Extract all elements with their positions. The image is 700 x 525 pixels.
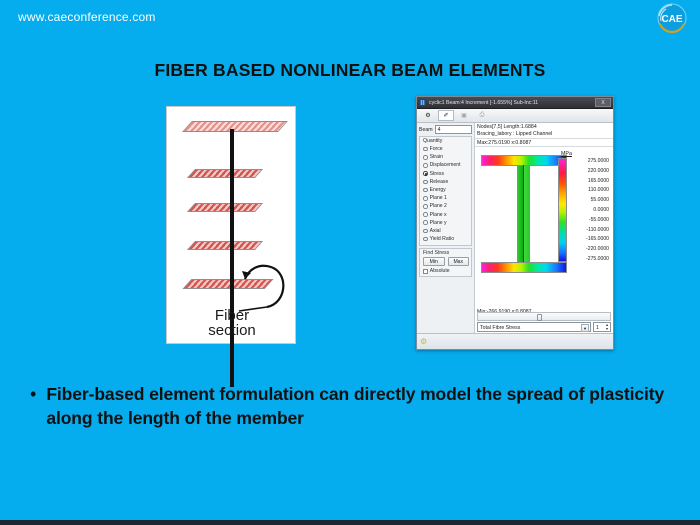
result-selector-row: Total Fibre Stress ▾ 1 ▲ ▼ [477, 322, 611, 332]
info-nodes-length: Nodes[7,5] Length:1.6884 [477, 124, 611, 131]
radio-icon[interactable] [423, 155, 428, 160]
model-info-lines: Nodes[7,5] Length:1.6884 Bracing_labory … [477, 124, 611, 137]
find-stress-group: Find Stress Min Max Absolute [419, 248, 472, 277]
site-url-text: www.caeconference.com [18, 10, 156, 24]
beam-input[interactable]: 4 [435, 125, 472, 134]
quantity-option-plane-x[interactable]: Plane x [423, 211, 469, 219]
fiber-caption-line2: section [175, 323, 289, 339]
quantity-option-label: Stress [430, 171, 444, 177]
quantity-option-displacement[interactable]: Displacement [423, 161, 469, 169]
slider-thumb[interactable] [537, 314, 542, 321]
chevron-down-icon[interactable]: ▾ [581, 324, 589, 332]
fiber-section-caption: Fiber section [175, 308, 289, 340]
legend-tick: -110.0000 [569, 227, 609, 233]
stress-color-legend: MPa 275.0000 220.0000 165.0000 110.0000 … [558, 151, 610, 262]
radio-icon[interactable] [423, 237, 428, 242]
max-value-text: Max:275.0190 x:0.8087 [477, 140, 531, 146]
legend-tick: -165.0000 [569, 236, 609, 242]
section-plot-canvas[interactable]: MPa 275.0000 220.0000 165.0000 110.0000 … [475, 149, 613, 307]
quantity-option-energy[interactable]: Energy [423, 186, 469, 194]
quantity-option-strain[interactable]: Strain [423, 153, 469, 161]
quantity-option-label: Displacement [430, 162, 461, 168]
quantity-option-axial[interactable]: Axial [423, 227, 469, 235]
bullet-text: Fiber-based element formulation can dire… [46, 382, 680, 430]
quantity-option-plane-2[interactable]: Plane 2 [423, 202, 469, 210]
fiber-section-diagram: Fiber section [166, 106, 296, 344]
pencil-icon[interactable]: ✐ [438, 110, 454, 121]
legend-tick: 0.0000 [569, 207, 609, 213]
quantity-group-title: Quantity [423, 138, 469, 144]
radio-icon[interactable] [423, 229, 428, 234]
radio-icon[interactable] [423, 180, 428, 185]
quantity-group: Quantity Force Strain Displacement Stres… [419, 136, 472, 246]
i-beam-web-centerline [523, 165, 524, 264]
increment-slider[interactable] [477, 312, 611, 321]
app-titlebar[interactable]: cyclic1 Beam:4 Increment [-1.655%] Sub-I… [417, 97, 613, 109]
bullet-block: • Fiber-based element formulation can di… [30, 382, 680, 430]
legend-color-bar [558, 158, 567, 262]
quantity-option-label: Force [430, 146, 443, 152]
app-body: Beam 4 Quantity Force Strain Displacemen… [417, 123, 613, 333]
legend-tick: -220.0000 [569, 246, 609, 252]
find-max-button[interactable]: Max [448, 257, 470, 266]
absolute-label: Absolute [430, 268, 450, 274]
quantity-option-plane-y[interactable]: Plane y [423, 219, 469, 227]
legend-tick: 110.0000 [569, 187, 609, 193]
quantity-option-release[interactable]: Release [423, 178, 469, 186]
quantity-option-plane-1[interactable]: Plane 1 [423, 194, 469, 202]
page-title: FIBER BASED NONLINEAR BEAM ELEMENTS [0, 60, 700, 81]
quantity-option-label: Axial [430, 228, 441, 234]
max-value-row: Max:275.0190 x:0.8087 [475, 138, 613, 147]
display-panel: Nodes[7,5] Length:1.6884 Bracing_labory … [475, 123, 613, 333]
beam-label: Beam [419, 127, 433, 133]
find-stress-title: Find Stress [423, 250, 469, 256]
analysis-app-window: cyclic1 Beam:4 Increment [-1.655%] Sub-I… [416, 96, 614, 350]
cae-logo-text: CAE [661, 14, 682, 25]
radio-icon[interactable] [423, 220, 428, 225]
legend-tick-labels: 275.0000 220.0000 165.0000 110.0000 55.0… [569, 158, 610, 262]
app-toolbar: ⚙ ✐ ▣ ⎙ [417, 109, 613, 123]
quantity-option-stress[interactable]: Stress [423, 170, 469, 178]
legend-tick: -55.0000 [569, 217, 609, 223]
quantity-option-label: Yield Ratio [430, 236, 454, 242]
legend-unit-label: MPa [561, 151, 610, 157]
quantity-option-label: Plane x [430, 212, 447, 218]
quantity-option-force[interactable]: Force [423, 145, 469, 153]
app-icon [419, 99, 426, 106]
settings-icon[interactable]: ⚙ [420, 110, 436, 121]
quantity-option-label: Release [430, 179, 449, 185]
legend-tick: -275.0000 [569, 256, 609, 262]
info-section-name: Bracing_labory : Lipped Channel [477, 131, 611, 138]
radio-icon[interactable] [423, 188, 428, 193]
quantity-option-label: Plane 1 [430, 195, 447, 201]
status-gear-icon[interactable]: ⚙ [420, 337, 427, 346]
legend-tick: 165.0000 [569, 178, 609, 184]
i-beam-bottom-flange [481, 262, 567, 273]
quantity-option-label: Plane 2 [430, 203, 447, 209]
legend-tick: 55.0000 [569, 197, 609, 203]
quantity-option-yield-ratio[interactable]: Yield Ratio [423, 235, 469, 243]
app-statusbar: ⚙ [417, 333, 613, 349]
i-beam-cross-section [481, 155, 567, 273]
radio-icon-selected[interactable] [423, 171, 428, 176]
stepper-arrows-icon[interactable]: ▲ ▼ [604, 323, 610, 332]
print-icon[interactable]: ⎙ [474, 110, 490, 121]
find-min-button[interactable]: Min [423, 257, 445, 266]
legend-tick: 220.0000 [569, 168, 609, 174]
app-window-title: cyclic1 Beam:4 Increment [-1.655%] Sub-I… [429, 100, 592, 106]
control-panel: Beam 4 Quantity Force Strain Displacemen… [417, 123, 475, 333]
quantity-option-label: Strain [430, 154, 443, 160]
copy-icon[interactable]: ▣ [456, 110, 472, 121]
absolute-checkbox-row[interactable]: Absolute [423, 268, 469, 274]
cae-logo: CAE [652, 2, 692, 36]
fibre-index-value: 1 [596, 325, 599, 331]
fibre-index-stepper[interactable]: 1 ▲ ▼ [593, 322, 611, 332]
bottom-bar [0, 520, 700, 525]
result-type-dropdown[interactable]: Total Fibre Stress ▾ [477, 322, 591, 332]
radio-icon[interactable] [423, 204, 428, 209]
result-type-value: Total Fibre Stress [480, 325, 520, 331]
legend-tick: 275.0000 [569, 158, 609, 164]
stepper-down-icon[interactable]: ▼ [604, 327, 610, 331]
quantity-option-label: Energy [430, 187, 446, 193]
legend-body: 275.0000 220.0000 165.0000 110.0000 55.0… [558, 158, 610, 262]
radio-icon[interactable] [423, 196, 428, 201]
quantity-option-label: Plane y [430, 220, 447, 226]
checkbox-icon[interactable] [423, 269, 428, 274]
radio-icon[interactable] [423, 163, 428, 168]
radio-icon[interactable] [423, 147, 428, 152]
beam-field-row: Beam 4 [419, 125, 472, 134]
bullet-marker: • [30, 382, 36, 430]
radio-icon[interactable] [423, 212, 428, 217]
close-icon[interactable]: X [595, 98, 611, 107]
fiber-caption-line1: Fiber [175, 308, 289, 324]
find-stress-buttons: Min Max [423, 257, 469, 266]
